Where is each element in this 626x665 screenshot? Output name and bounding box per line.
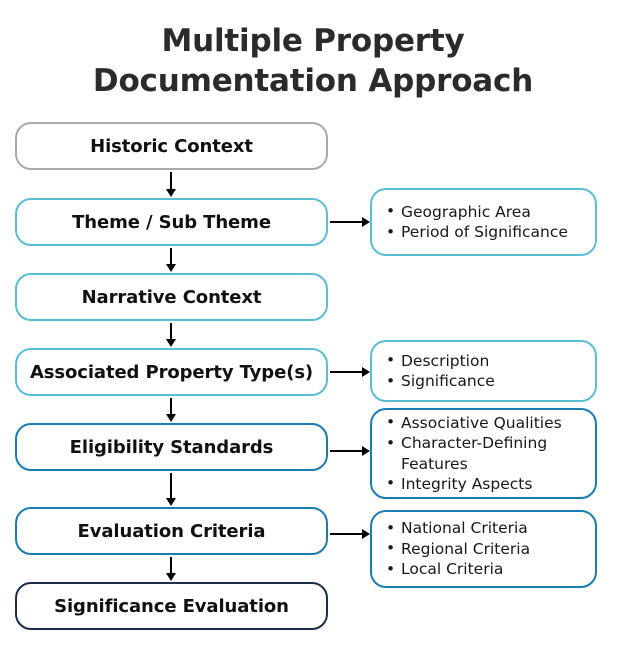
detail-bullet-item: Character-Defining Features (384, 433, 585, 474)
flow-node-label: Narrative Context (82, 287, 262, 308)
diagram-canvas: Multiple Property Documentation Approach… (0, 0, 626, 665)
detail-bullet-item: Period of Significance (384, 222, 585, 242)
detail-bullet-item: Associative Qualities (384, 413, 585, 433)
detail-box-eligibility-standards[interactable]: Associative Qualities Character-Defining… (370, 408, 597, 499)
right-arrow-icon (330, 533, 362, 535)
flow-node-historic-context[interactable]: Historic Context (15, 122, 328, 170)
detail-bullet-item: National Criteria (384, 518, 585, 538)
flow-node-label: Significance Evaluation (54, 596, 289, 617)
flow-node-significance-evaluation[interactable]: Significance Evaluation (15, 582, 328, 630)
flow-node-associated-property-types[interactable]: Associated Property Type(s) (15, 348, 328, 396)
flow-node-eligibility-standards[interactable]: Eligibility Standards (15, 423, 328, 471)
detail-box-evaluation-criteria[interactable]: National Criteria Regional Criteria Loca… (370, 510, 597, 588)
right-arrow-icon (330, 221, 362, 223)
detail-box-associated-property-types[interactable]: Description Significance (370, 340, 597, 402)
page-title-line-2: Documentation Approach (0, 62, 626, 102)
flow-node-narrative-context[interactable]: Narrative Context (15, 273, 328, 321)
detail-bullet-list: Associative Qualities Character-Defining… (384, 413, 585, 495)
flow-node-label: Historic Context (90, 136, 253, 157)
detail-bullet-item: Regional Criteria (384, 539, 585, 559)
detail-bullet-list: National Criteria Regional Criteria Loca… (384, 518, 585, 579)
page-title: Multiple Property Documentation Approach (0, 22, 626, 101)
right-arrow-icon (330, 371, 362, 373)
flow-node-evaluation-criteria[interactable]: Evaluation Criteria (15, 507, 328, 555)
detail-bullet-item: Integrity Aspects (384, 474, 585, 494)
right-arrow-icon (330, 450, 362, 452)
flow-node-label: Theme / Sub Theme (72, 212, 271, 233)
down-arrow-icon (170, 323, 172, 340)
flow-node-label: Eligibility Standards (70, 437, 274, 458)
flow-node-theme-sub-theme[interactable]: Theme / Sub Theme (15, 198, 328, 246)
detail-bullet-item: Description (384, 351, 585, 371)
detail-bullet-item: Local Criteria (384, 559, 585, 579)
detail-bullet-list: Geographic Area Period of Significance (384, 202, 585, 243)
detail-bullet-item: Significance (384, 371, 585, 391)
down-arrow-icon (170, 473, 172, 499)
flow-node-label: Associated Property Type(s) (30, 362, 313, 383)
down-arrow-icon (170, 248, 172, 265)
down-arrow-icon (170, 398, 172, 415)
detail-box-theme-sub-theme[interactable]: Geographic Area Period of Significance (370, 188, 597, 256)
down-arrow-icon (170, 172, 172, 190)
down-arrow-icon (170, 557, 172, 574)
detail-bullet-item: Geographic Area (384, 202, 585, 222)
page-title-line-1: Multiple Property (0, 22, 626, 62)
detail-bullet-list: Description Significance (384, 351, 585, 392)
flow-node-label: Evaluation Criteria (78, 521, 266, 542)
